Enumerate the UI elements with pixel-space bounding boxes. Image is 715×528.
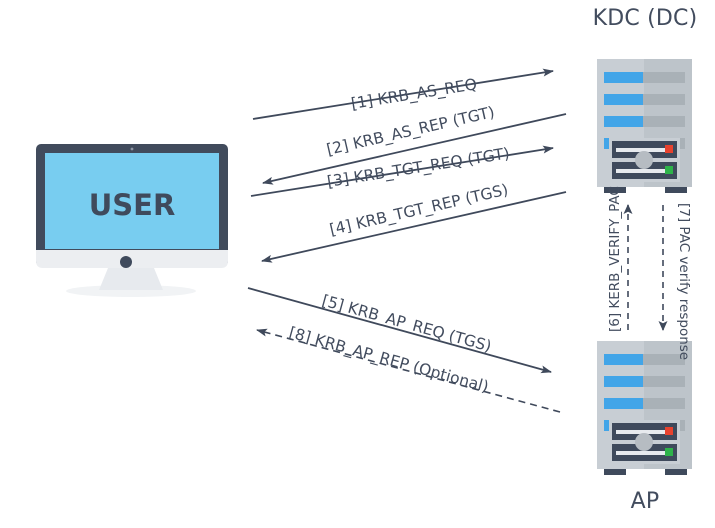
desktop-monitor-icon — [36, 144, 228, 297]
diagram-graphics: USER — [0, 0, 715, 528]
message-arrow-8 — [257, 330, 560, 412]
user-screen-label: USER — [89, 188, 176, 222]
message-label-4: [4] KRB_TGT_REP (TGS) — [328, 181, 510, 240]
message-arrow-5 — [248, 288, 551, 372]
message-arrow-4 — [262, 192, 566, 261]
message-label-6: [6] KERB_VERIFY_PAC — [607, 186, 623, 332]
ap-server-icon — [597, 341, 692, 475]
message-label-2: [2] KRB_AS_REP (TGT) — [325, 103, 497, 160]
message-arrow-2 — [263, 114, 566, 183]
message-label-8: [8] KRB_AP_REP (Optional) — [287, 324, 491, 397]
message-label-3: [3] KRB_TGT_REQ (TGT) — [326, 144, 511, 192]
message-label-5: [5] KRB_AP_REQ (TGS) — [320, 292, 494, 357]
message-arrow-3 — [251, 148, 553, 196]
message-label-7: [7] PAC verify response — [676, 203, 692, 360]
diagram-canvas: KDC (DC) AP — [0, 0, 715, 528]
kdc-node-label: KDC (DC) — [575, 6, 715, 31]
ap-node-label: AP — [595, 489, 695, 514]
message-label-1: [1] KRB_AS_REQ — [350, 75, 479, 114]
kdc-server-icon — [597, 59, 692, 193]
message-arrow-1 — [253, 71, 553, 119]
